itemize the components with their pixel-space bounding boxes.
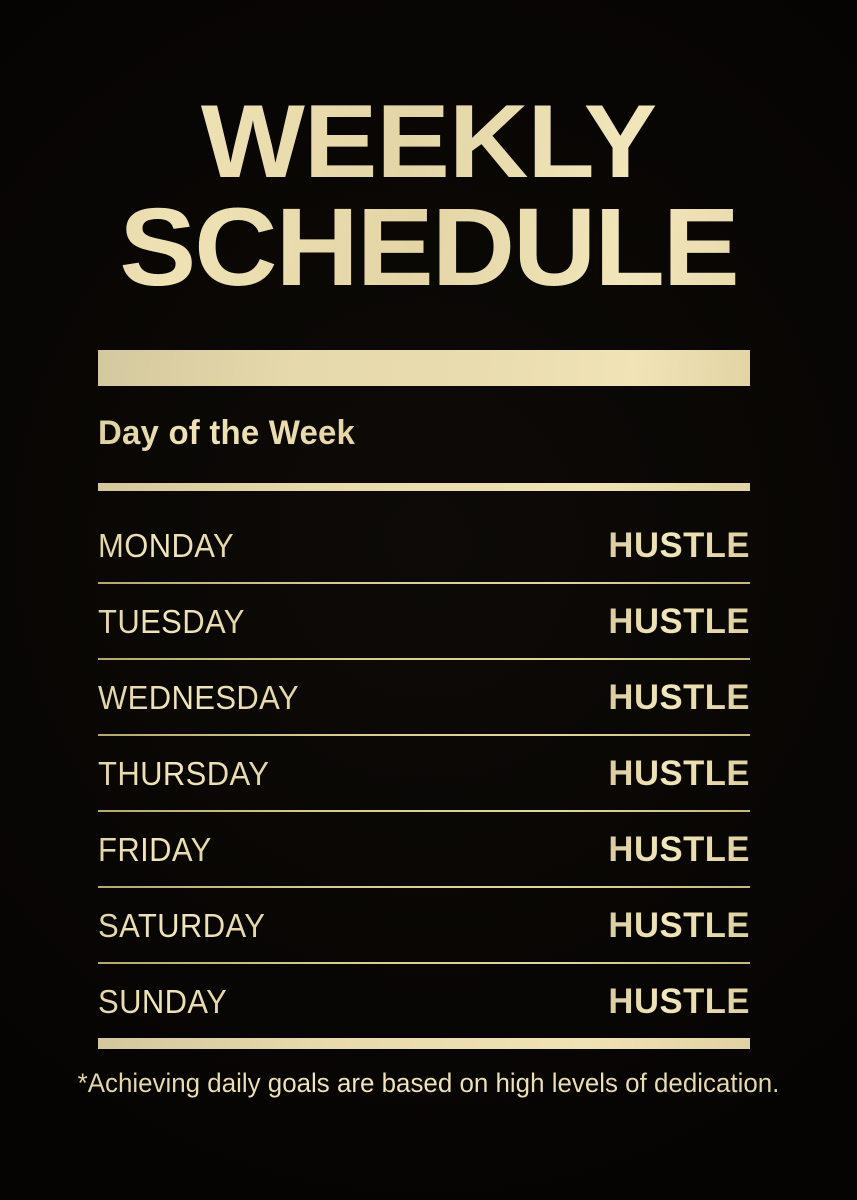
row-task-label: HUSTLE <box>608 754 750 794</box>
title-line-schedule: SCHEDULE <box>0 195 857 302</box>
row-task-label: HUSTLE <box>608 982 750 1022</box>
schedule-table: MONDAY HUSTLE TUESDAY HUSTLE WEDNESDAY H… <box>98 508 750 1040</box>
title-line-weekly: WEEKLY <box>0 92 857 193</box>
poster-title: WEEKLY SCHEDULE <box>0 92 857 302</box>
row-day-label: FRIDAY <box>98 831 212 869</box>
footer-accent-bar <box>98 1038 750 1049</box>
row-task-label: HUSTLE <box>608 906 750 946</box>
row-task-label: HUSTLE <box>608 602 750 642</box>
table-row: SATURDAY HUSTLE <box>98 888 750 964</box>
table-row: MONDAY HUSTLE <box>98 508 750 584</box>
row-task-label: HUSTLE <box>608 526 750 566</box>
row-day-label: MONDAY <box>98 527 234 565</box>
header-accent-bar-medium <box>98 483 750 491</box>
table-row: WEDNESDAY HUSTLE <box>98 660 750 736</box>
weekly-schedule-poster: WEEKLY SCHEDULE Day of the Week MONDAY H… <box>0 0 857 1200</box>
table-row: THURSDAY HUSTLE <box>98 736 750 812</box>
row-task-label: HUSTLE <box>608 678 750 718</box>
row-day-label: THURSDAY <box>98 755 269 793</box>
table-row: SUNDAY HUSTLE <box>98 964 750 1040</box>
footnote-text: *Achieving daily goals are based on high… <box>17 1068 840 1099</box>
table-row: FRIDAY HUSTLE <box>98 812 750 888</box>
row-day-label: TUESDAY <box>98 603 245 641</box>
column-header-day-of-week: Day of the Week <box>98 414 355 453</box>
header-accent-bar-thick <box>98 350 750 386</box>
row-task-label: HUSTLE <box>608 830 750 870</box>
row-day-label: WEDNESDAY <box>98 679 299 717</box>
table-row: TUESDAY HUSTLE <box>98 584 750 660</box>
row-day-label: SUNDAY <box>98 983 227 1021</box>
row-day-label: SATURDAY <box>98 907 265 945</box>
